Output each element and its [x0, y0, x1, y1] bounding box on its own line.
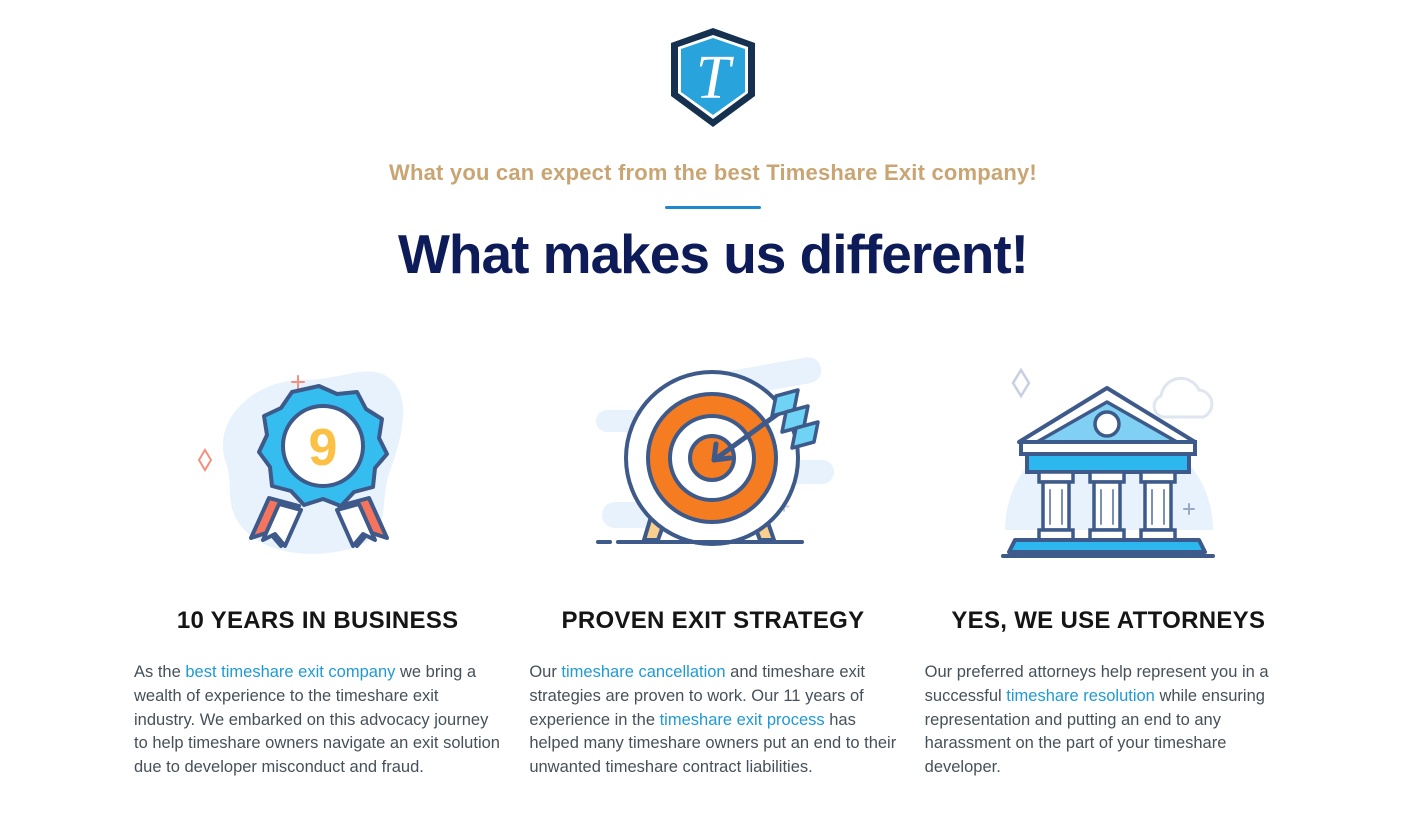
award-badge-nine-icon: 9	[193, 350, 443, 565]
body-text: As the	[134, 663, 185, 681]
feature-body-1: As the best timeshare exit company we br…	[134, 661, 501, 780]
link-timeshare-resolution[interactable]: timeshare resolution	[1006, 687, 1155, 705]
link-best-timeshare-exit-company[interactable]: best timeshare exit company	[185, 663, 395, 681]
target-arrow-icon	[588, 350, 838, 565]
divider-container	[0, 206, 1426, 209]
feature-title-2: PROVEN EXIT STRATEGY	[562, 607, 865, 635]
feature-column-3: YES, WE USE ATTORNEYS Our preferred atto…	[911, 350, 1306, 796]
courthouse-building-icon	[983, 350, 1233, 565]
feature-column-2: PROVEN EXIT STRATEGY Our timeshare cance…	[515, 350, 910, 796]
feature-title-1: 10 YEARS IN BUSINESS	[177, 607, 459, 635]
badge-number: 9	[308, 419, 337, 477]
section-divider	[665, 206, 761, 209]
feature-title-3: YES, WE USE ATTORNEYS	[951, 607, 1265, 635]
logo-letter: T	[696, 44, 735, 112]
feature-body-2: Our timeshare cancellation and timeshare…	[529, 661, 896, 780]
eyebrow-text: What you can expect from the best Timesh…	[0, 160, 1426, 186]
logo-container: T	[0, 0, 1426, 130]
feature-column-1: 9 10 YEARS IN BUSINESS As the best times…	[120, 350, 515, 796]
link-timeshare-exit-process[interactable]: timeshare exit process	[660, 711, 825, 729]
shield-t-logo-icon: T	[665, 26, 761, 130]
feature-body-3: Our preferred attorneys help represent y…	[925, 661, 1292, 780]
link-timeshare-cancellation[interactable]: timeshare cancellation	[561, 663, 725, 681]
page-root: T What you can expect from the best Time…	[0, 0, 1426, 827]
page-title: What makes us different!	[0, 223, 1426, 286]
feature-columns: 9 10 YEARS IN BUSINESS As the best times…	[0, 350, 1426, 796]
body-text: Our	[529, 663, 561, 681]
